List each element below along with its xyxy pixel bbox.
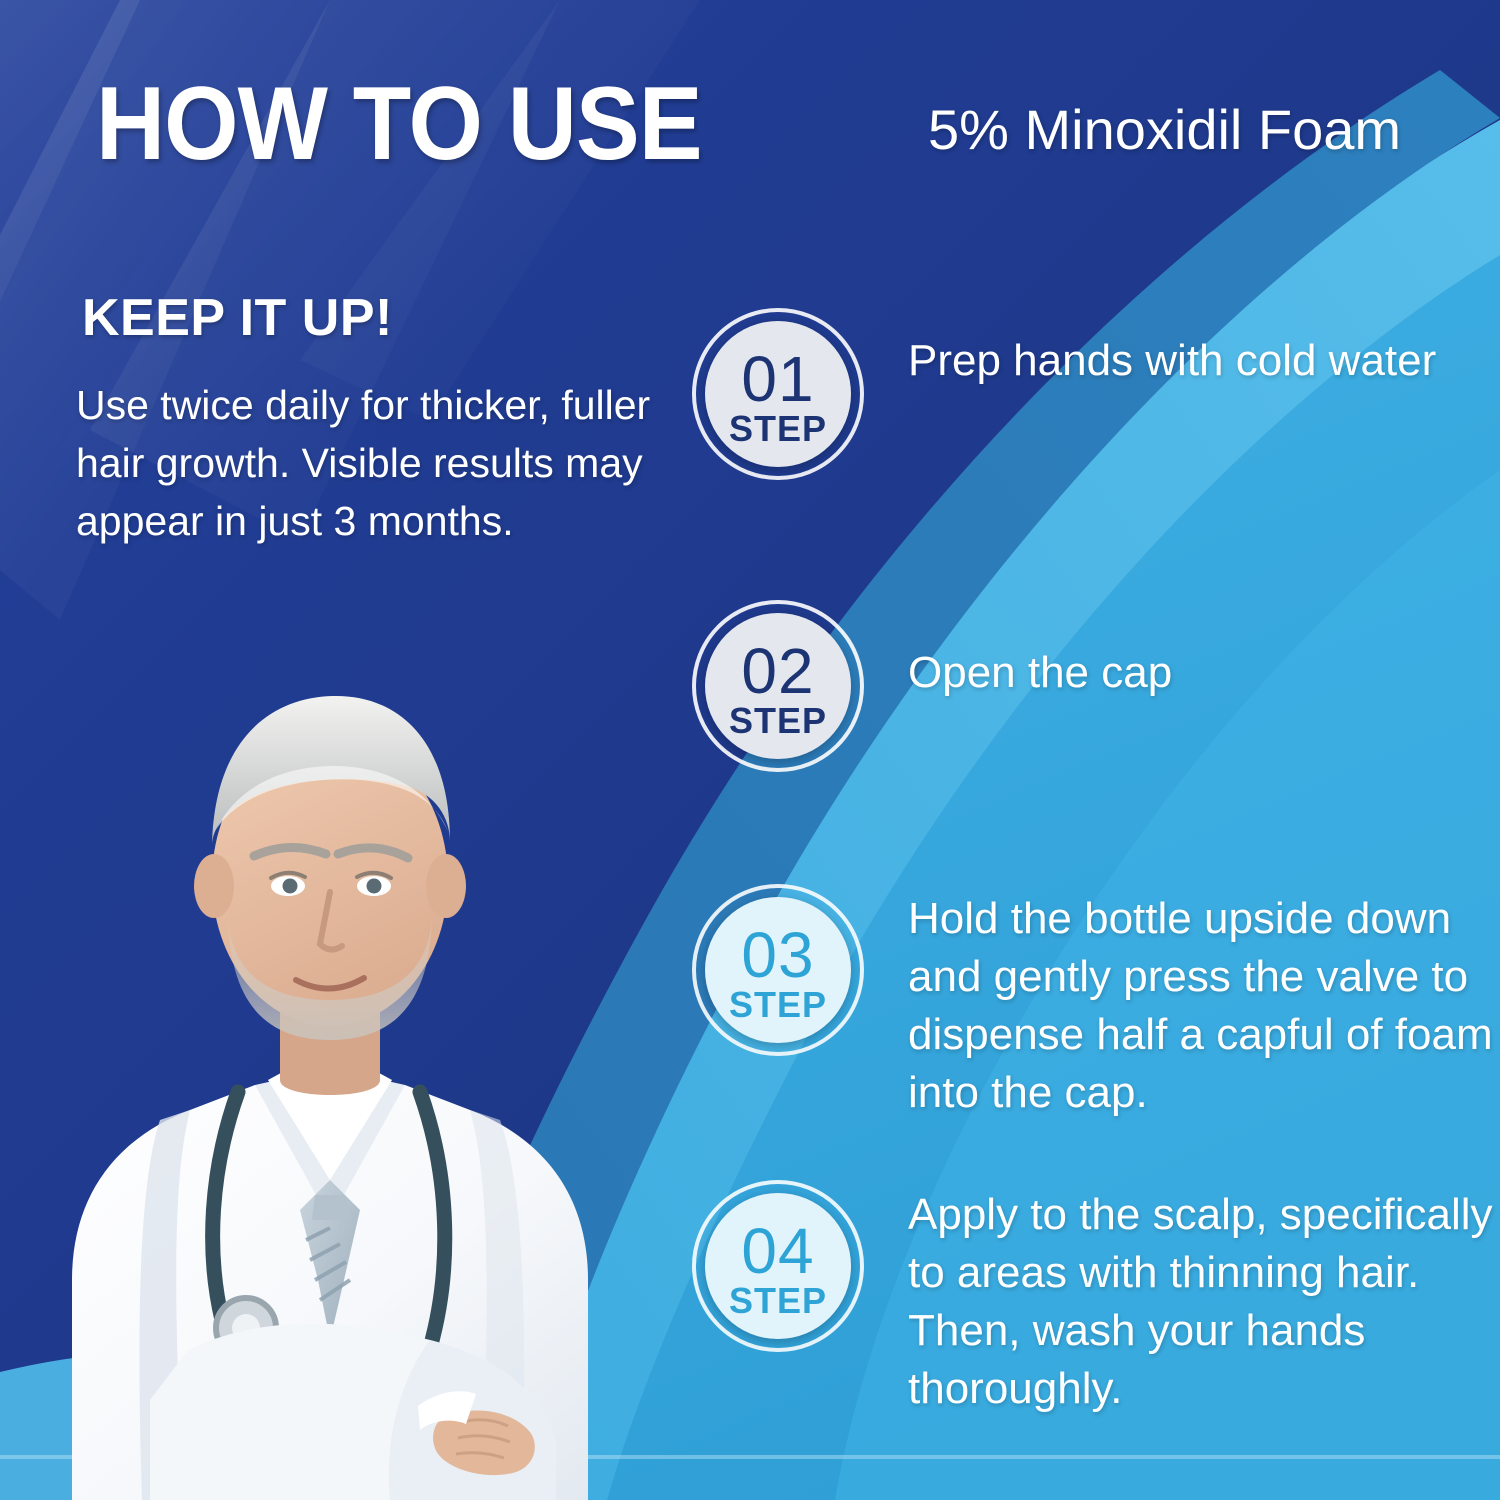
badge-disc: 03 STEP (705, 897, 851, 1043)
keep-it-up-body: Use twice daily for thicker, fuller hair… (76, 376, 716, 551)
badge-disc: 02 STEP (705, 613, 851, 759)
step-description-01: Prep hands with cold water (908, 308, 1436, 390)
step-number: 03 (741, 925, 814, 986)
step-number: 01 (741, 349, 814, 410)
keep-it-up-heading: KEEP IT UP! (82, 288, 393, 348)
step-word: STEP (729, 703, 827, 739)
infographic-poster: HOW TO USE 5% Minoxidil Foam KEEP IT UP!… (0, 0, 1500, 1500)
step-description-02: Open the cap (908, 600, 1172, 702)
step-item-04: 04 STEP Apply to the scalp, specifically… (692, 1180, 1500, 1418)
step-word: STEP (729, 411, 827, 447)
step-item-02: 02 STEP Open the cap (692, 600, 1172, 772)
badge-disc: 04 STEP (705, 1193, 851, 1339)
doctor-portrait-image (0, 580, 660, 1500)
step-word: STEP (729, 987, 827, 1023)
badge-disc: 01 STEP (705, 321, 851, 467)
page-title: HOW TO USE (96, 72, 702, 176)
step-item-03: 03 STEP Hold the bottle upside down and … (692, 884, 1500, 1122)
step-number: 04 (741, 1221, 814, 1282)
product-name: 5% Minoxidil Foam (928, 96, 1401, 163)
step-badge-04: 04 STEP (692, 1180, 864, 1352)
step-badge-02: 02 STEP (692, 600, 864, 772)
step-item-01: 01 STEP Prep hands with cold water (692, 308, 1436, 480)
step-word: STEP (729, 1283, 827, 1319)
step-description-04: Apply to the scalp, specifically to area… (908, 1180, 1500, 1418)
step-badge-03: 03 STEP (692, 884, 864, 1056)
step-description-03: Hold the bottle upside down and gently p… (908, 884, 1500, 1122)
step-number: 02 (741, 641, 814, 702)
step-badge-01: 01 STEP (692, 308, 864, 480)
